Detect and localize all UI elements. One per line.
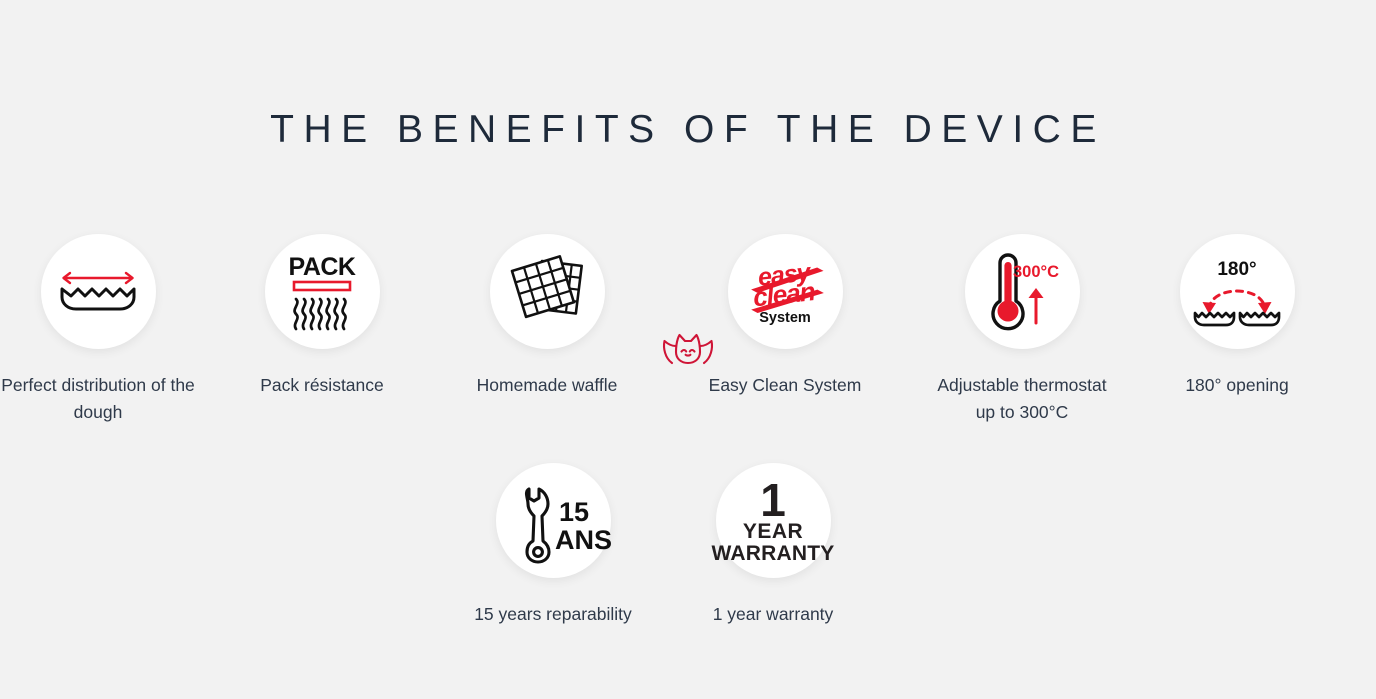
benefit-15-years-reparability[interactable]: 15 ANS 15 years reparability <box>458 463 648 628</box>
thermometer-value: 300°C <box>1013 263 1059 281</box>
benefit-caption: Homemade waffle <box>452 372 642 399</box>
waffle-plate-width-arrow-icon <box>57 264 139 320</box>
benefit-icon-circle: easy clean System <box>728 234 843 349</box>
benefit-icon-circle: 180° <box>1180 234 1295 349</box>
warranty-years-unit: ANS <box>555 525 612 555</box>
benefit-caption: Pack résistance <box>227 372 417 399</box>
180-degree-opening-icon: 180° <box>1192 256 1282 328</box>
benefit-perfect-distribution[interactable]: Perfect distribution of the dough <box>0 234 196 426</box>
svg-text:PACK: PACK <box>289 253 356 281</box>
benefit-icon-circle: 15 ANS <box>496 463 611 578</box>
opening-angle-value: 180° <box>1217 259 1256 280</box>
benefit-caption: 15 years reparability <box>458 601 648 628</box>
one-year-warranty-badge-icon: 1 YEAR WARRANTY <box>725 476 821 566</box>
benefit-caption: Adjustable thermostat up to 300°C <box>927 372 1117 426</box>
warranty-years-number: 15 <box>559 497 589 527</box>
two-waffles-icon <box>506 255 588 329</box>
wrench-15-years-icon: 15 ANS <box>511 479 595 563</box>
benefit-caption: 180° opening <box>1147 372 1327 399</box>
benefit-icon-circle <box>41 234 156 349</box>
benefit-icon-circle: 300°C <box>965 234 1080 349</box>
pack-heat-lines-icon: PACK <box>282 251 362 333</box>
benefit-easy-clean-system[interactable]: easy clean System Easy Clean System <box>690 234 880 399</box>
thermometer-icon: 300°C <box>980 251 1064 333</box>
warranty-number: 1 <box>760 474 786 526</box>
benefit-icon-circle: PACK <box>265 234 380 349</box>
benefit-homemade-waffle[interactable]: Homemade waffle <box>452 234 642 399</box>
benefit-pack-resistance[interactable]: PACK Pack résistance <box>227 234 417 399</box>
easy-clean-system-logo-icon: easy clean System <box>739 259 831 325</box>
benefit-icon-circle: 1 YEAR WARRANTY <box>716 463 831 578</box>
warranty-word: WARRANTY <box>712 542 835 565</box>
benefit-caption: 1 year warranty <box>678 601 868 628</box>
benefit-180-opening[interactable]: 180° 180° opening <box>1147 234 1327 399</box>
svg-text:System: System <box>759 310 811 326</box>
benefit-caption: Easy Clean System <box>690 372 880 399</box>
page-title: THE BENEFITS OF THE DEVICE <box>0 108 1376 152</box>
warranty-unit: YEAR <box>743 520 803 543</box>
benefit-adjustable-thermostat[interactable]: 300°C Adjustable thermostat up to 300°C <box>927 234 1117 426</box>
benefit-caption: Perfect distribution of the dough <box>0 372 196 426</box>
benefit-icon-circle <box>490 234 605 349</box>
benefit-1-year-warranty[interactable]: 1 YEAR WARRANTY 1 year warranty <box>678 463 868 628</box>
